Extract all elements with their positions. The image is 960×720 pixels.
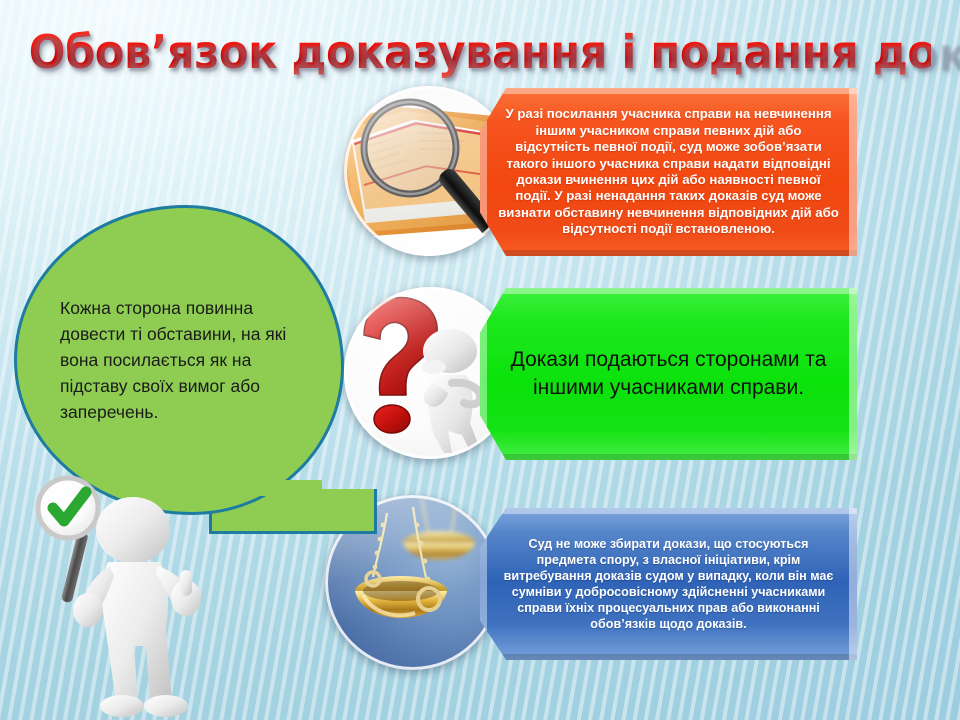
speech-bubble-text: Кожна сторона повинна довести ті обстави… — [60, 295, 298, 425]
banner-green: Докази подаються сторонами та іншими уча… — [480, 288, 857, 460]
banner-blue: Суд не може збирати докази, що стосуютьс… — [480, 508, 857, 660]
banner-orange-text: У разі посилання учасника справи на невч… — [480, 106, 857, 237]
3d-figure-with-checkmark-magnifier — [20, 470, 210, 720]
page-title: Обов’язок доказування і подання доказів — [29, 24, 931, 80]
slide-canvas: Обов’язок доказування і подання доказів — [0, 0, 960, 720]
banner-blue-text: Суд не може збирати докази, що стосуютьс… — [480, 536, 857, 632]
banner-orange: У разі посилання учасника справи на невч… — [480, 88, 857, 256]
banner-green-text: Докази подаються сторонами та іншими уча… — [480, 346, 857, 402]
